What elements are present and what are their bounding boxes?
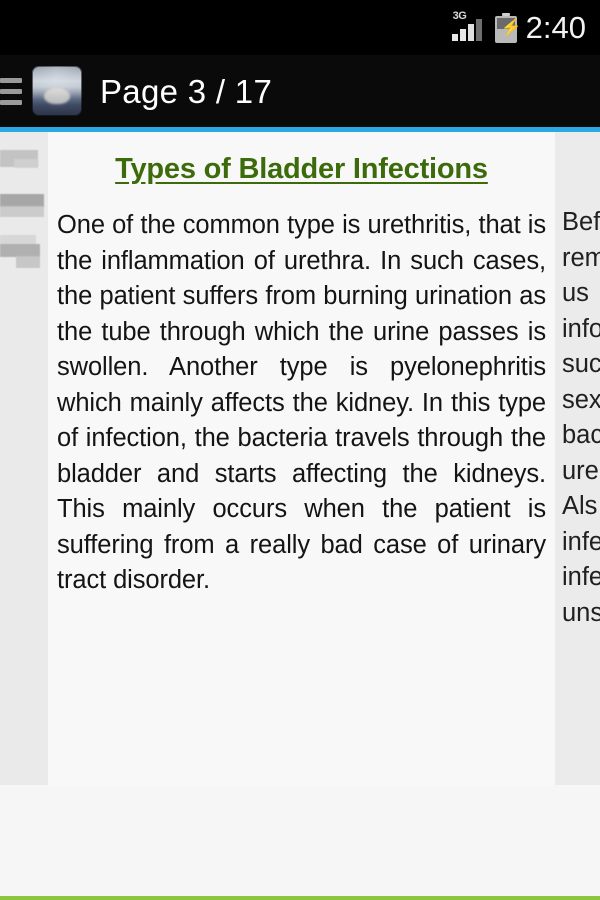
status-bar-icons: 3G ⚡ 2:40 xyxy=(452,12,586,44)
clipped-line: Bef xyxy=(562,205,600,241)
clipped-line: rem xyxy=(562,241,600,277)
next-page-preview[interactable]: Bef rem us info suc sex bac ure Als infe… xyxy=(555,132,600,785)
clipped-line: sex xyxy=(562,383,600,419)
clipped-line: ure xyxy=(562,454,600,490)
app-logo-icon[interactable] xyxy=(32,66,82,116)
ghost-text-line xyxy=(0,206,44,217)
article-heading: Types of Bladder Infections xyxy=(48,152,555,186)
status-bar-clock: 2:40 xyxy=(526,12,586,43)
clipped-line: infe xyxy=(562,525,600,561)
clipped-line: info xyxy=(562,312,600,348)
bottom-accent-rule xyxy=(0,896,600,900)
charging-bolt-icon: ⚡ xyxy=(501,18,511,37)
clipped-line: infe xyxy=(562,560,600,596)
page-title: Page 3 / 17 xyxy=(100,75,272,108)
ghost-text-line xyxy=(16,256,40,268)
status-bar: 3G ⚡ 2:40 xyxy=(0,0,600,55)
previous-page-preview[interactable] xyxy=(0,132,48,785)
clipped-line: suc xyxy=(562,347,600,383)
reader-viewport[interactable]: Types of Bladder Infections One of the c… xyxy=(0,132,600,900)
app-bar: Page 3 / 17 xyxy=(0,55,600,127)
article-body: One of the common type is urethritis, th… xyxy=(57,208,546,599)
signal-bars-icon: 3G xyxy=(452,12,486,44)
signal-bars-glyph xyxy=(452,20,486,41)
ghost-text-line xyxy=(14,159,38,168)
battery-charging-icon: ⚡ xyxy=(495,13,517,43)
clipped-line: bac xyxy=(562,418,600,454)
clipped-line: Als xyxy=(562,489,600,525)
next-page-clipped-text: Bef rem us info suc sex bac ure Als infe… xyxy=(562,205,600,631)
clipped-line: us xyxy=(562,276,600,312)
current-page[interactable]: Types of Bladder Infections One of the c… xyxy=(48,132,555,785)
clipped-line: uns xyxy=(562,596,600,632)
hamburger-menu-icon[interactable] xyxy=(0,78,26,105)
